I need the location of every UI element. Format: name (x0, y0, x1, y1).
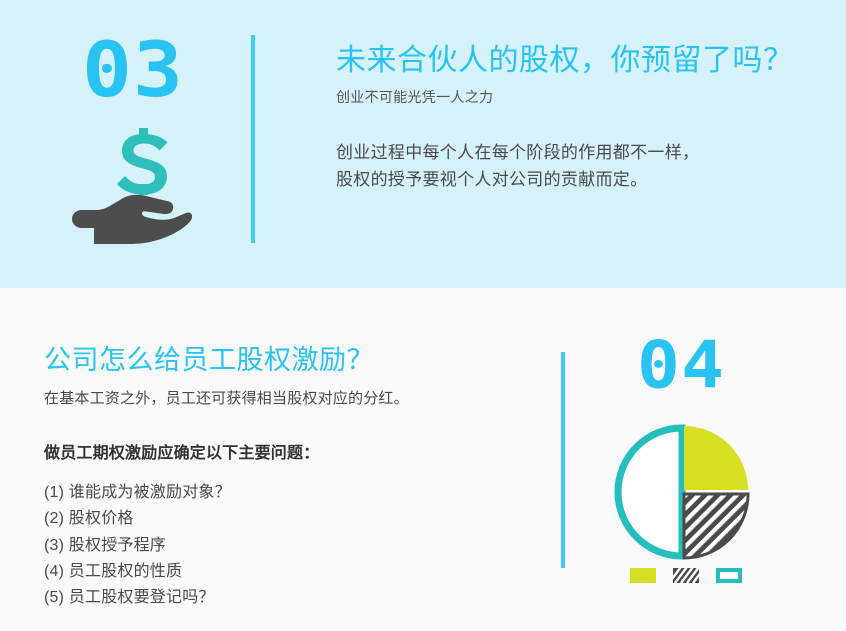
list-item: (3) 股权授予程序 (44, 533, 514, 559)
top-heading: 未来合伙人的股权，你预留了吗？ (336, 42, 832, 80)
divider-top (251, 35, 255, 243)
section-number-04: 04 (637, 333, 725, 398)
top-body-line-1: 创业过程中每个人在每个阶段的作用都不一样， (336, 139, 832, 167)
pie-slice-solid (684, 426, 748, 490)
list-item: (1) 谁能成为被激励对象？ (44, 480, 514, 506)
bottom-heading: 公司怎么给员工股权激励？ (44, 344, 514, 376)
top-subtitle: 创业不可能光凭一人之力 (336, 87, 832, 107)
bottom-text-block: 公司怎么给员工股权激励？ 在基本工资之外，员工还可获得相当股权对应的分红。 做员… (44, 344, 514, 611)
bottom-question-title: 做员工期权激励应确定以下主要问题： (44, 439, 514, 463)
section-top-partner-equity: 03 未来合伙人的股权，你预留了吗？ 创业不可能光凭一人之力 创业 (0, 0, 846, 288)
legend-swatch-hatched (673, 568, 699, 583)
bottom-question-list: (1) 谁能成为被激励对象？ (2) 股权价格 (3) 股权授予程序 (4) 员… (44, 480, 514, 610)
bottom-subtitle: 在基本工资之外，员工还可获得相当股权对应的分红。 (44, 387, 514, 408)
infographic-slide: 03 未来合伙人的股权，你预留了吗？ 创业不可能光凭一人之力 创业 (0, 0, 846, 631)
list-item: (5) 员工股权要登记吗？ (44, 585, 514, 611)
pie-slice-hatched (684, 494, 748, 558)
section-number-03: 03 (82, 33, 184, 108)
divider-bottom (561, 352, 565, 568)
top-body-line-2: 股权的授予要视个人对公司的贡献而定。 (336, 166, 832, 194)
legend-swatch-outline (716, 568, 742, 583)
list-item: (2) 股权价格 (44, 506, 514, 532)
legend-swatch-solid (630, 568, 656, 583)
hand-holding-dollar-icon (62, 122, 192, 246)
top-body-paragraph: 创业过程中每个人在每个阶段的作用都不一样， 股权的授予要视个人对公司的贡献而定。 (336, 139, 832, 194)
list-item: (4) 员工股权的性质 (44, 559, 514, 585)
pie-slice-outline (618, 428, 682, 556)
pie-chart-legend (630, 568, 742, 583)
top-text-block: 未来合伙人的股权，你预留了吗？ 创业不可能光凭一人之力 创业过程中每个人在每个阶… (336, 42, 832, 194)
pie-chart (614, 424, 758, 560)
